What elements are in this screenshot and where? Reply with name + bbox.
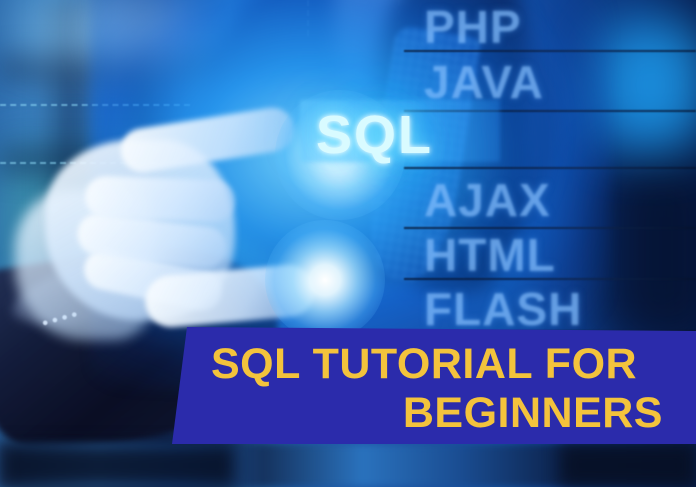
menu-item-php[interactable]: PHP xyxy=(404,4,696,50)
fingertip-glow-lower xyxy=(265,220,385,340)
bottom-dark-patch-right xyxy=(560,444,696,487)
menu-item-flash[interactable]: FLASH xyxy=(404,285,696,333)
menu-item-html[interactable]: HTML xyxy=(404,232,696,278)
menu-item-java[interactable]: JAVA xyxy=(404,58,696,106)
bottom-dark-patch xyxy=(0,444,235,487)
banner-title-line2: BEGINNERS xyxy=(193,389,663,438)
menu-item-html-label: HTML xyxy=(424,228,556,282)
menu-item-sql-label: SQL xyxy=(316,104,433,166)
pointing-hand xyxy=(25,70,345,330)
menu-item-flash-label: FLASH xyxy=(424,282,582,336)
banner-title-line1: SQL TUTORIAL FOR xyxy=(193,340,663,389)
menu-separator-1 xyxy=(404,50,696,52)
menu-separator-3 xyxy=(404,167,696,169)
menu-item-ajax[interactable]: AJAX xyxy=(404,175,696,225)
menu-separator-5 xyxy=(404,278,696,280)
technology-menu: PHP JAVA SQL AJAX HTML FLASH xyxy=(404,0,696,335)
menu-item-php-label: PHP xyxy=(424,0,522,54)
banner-title: SQL TUTORIAL FOR BEGINNERS xyxy=(193,340,663,438)
menu-item-ajax-label: AJAX xyxy=(424,173,551,227)
middle-finger xyxy=(84,175,235,222)
promotional-banner-image: PHP JAVA SQL AJAX HTML FLASH SQL TUTORIA… xyxy=(0,0,696,487)
